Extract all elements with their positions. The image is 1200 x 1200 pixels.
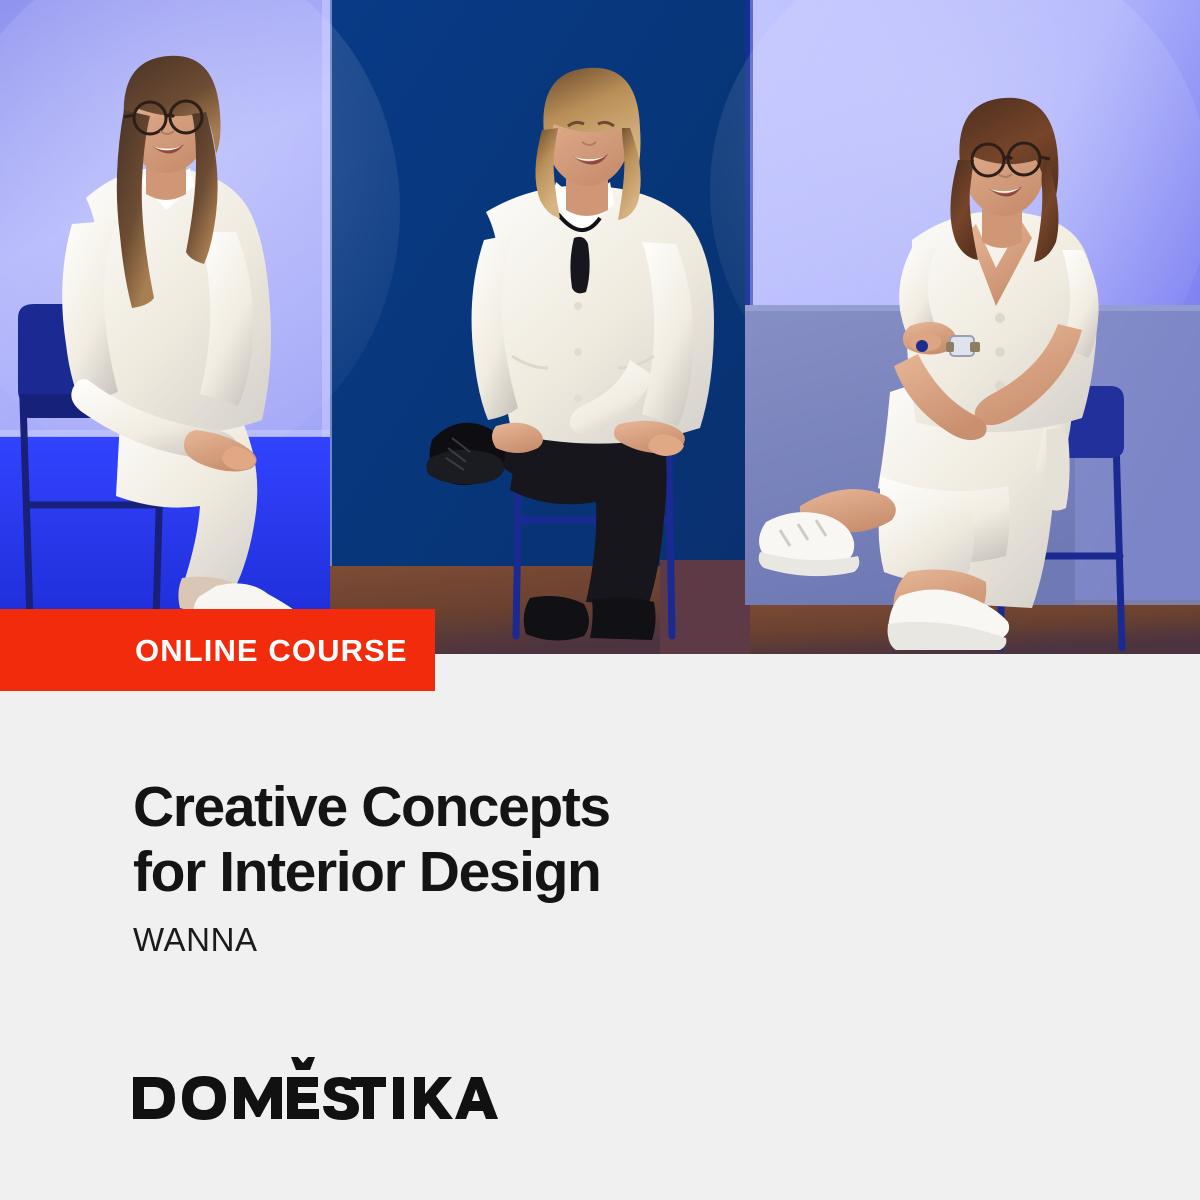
course-title: Creative Concepts for Interior Design (133, 775, 1033, 905)
course-promo-card: ONLINE COURSE Creative Concepts for Inte… (0, 0, 1200, 1200)
online-course-badge: ONLINE COURSE (0, 609, 435, 691)
course-info: Creative Concepts for Interior Design WA… (133, 775, 1033, 956)
badge-label: ONLINE COURSE (135, 635, 408, 666)
domestika-logo[interactable] (131, 1052, 551, 1132)
hero-photo (0, 0, 1200, 654)
course-author: WANNA (133, 923, 1033, 956)
